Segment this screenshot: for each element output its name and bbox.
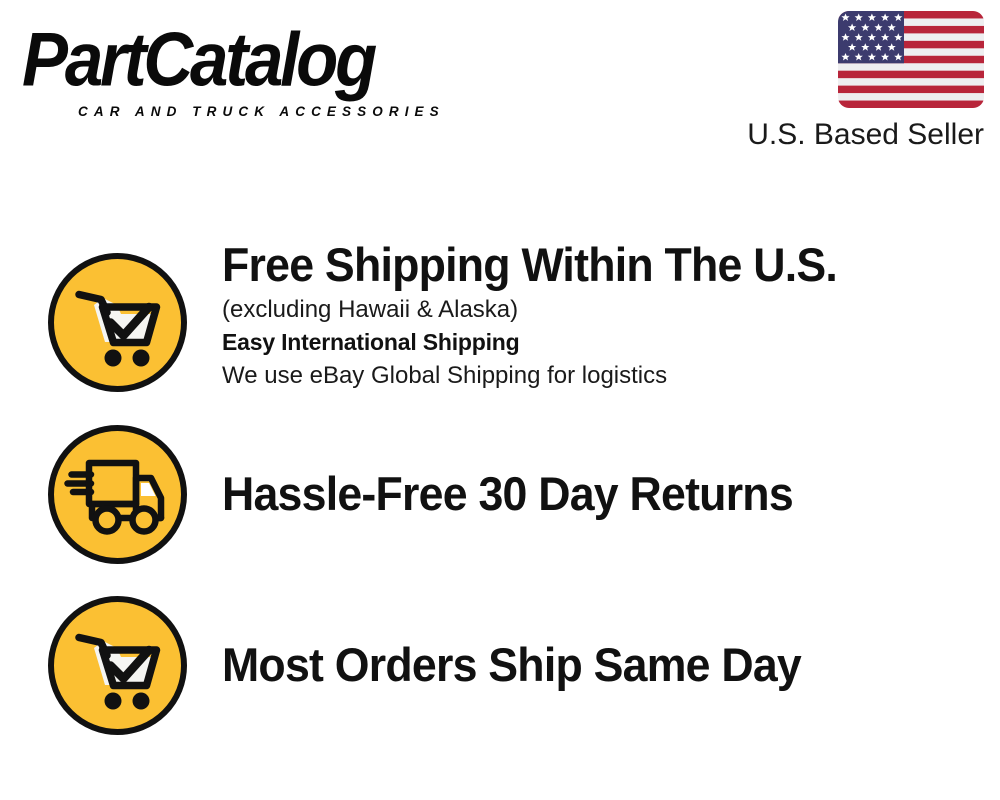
us-flag-icon — [838, 11, 984, 108]
feature-row-free-shipping: Free Shipping Within The U.S. (excluding… — [0, 250, 1000, 410]
brand-logo: PartCatalog CAR AND TRUCK ACCESSORIES — [22, 20, 492, 115]
shipping-info-banner: PartCatalog CAR AND TRUCK ACCESSORIES — [0, 0, 1000, 800]
brand-tagline: CAR AND TRUCK ACCESSORIES — [78, 104, 445, 119]
feature-subline: (excluding Hawaii & Alaska) — [222, 293, 990, 326]
feature-text-same-day: Most Orders Ship Same Day — [222, 637, 990, 693]
feature-row-returns: Hassle-Free 30 Day Returns — [0, 422, 1000, 567]
shopping-cart-check-icon — [45, 593, 190, 738]
feature-secondary-title: Easy International Shipping — [222, 326, 990, 359]
feature-headline: Free Shipping Within The U.S. — [222, 237, 952, 293]
delivery-truck-icon — [45, 422, 190, 567]
feature-headline: Hassle-Free 30 Day Returns — [222, 466, 952, 522]
feature-text-free-shipping: Free Shipping Within The U.S. (excluding… — [222, 237, 990, 392]
feature-secondary-subline: We use eBay Global Shipping for logistic… — [222, 359, 990, 392]
feature-row-same-day: Most Orders Ship Same Day — [0, 593, 1000, 738]
feature-text-returns: Hassle-Free 30 Day Returns — [222, 466, 990, 522]
feature-headline: Most Orders Ship Same Day — [222, 637, 952, 693]
us-based-seller-label: U.S. Based Seller — [747, 116, 984, 154]
brand-wordmark: PartCatalog — [22, 14, 374, 106]
shopping-cart-check-icon — [45, 250, 190, 395]
